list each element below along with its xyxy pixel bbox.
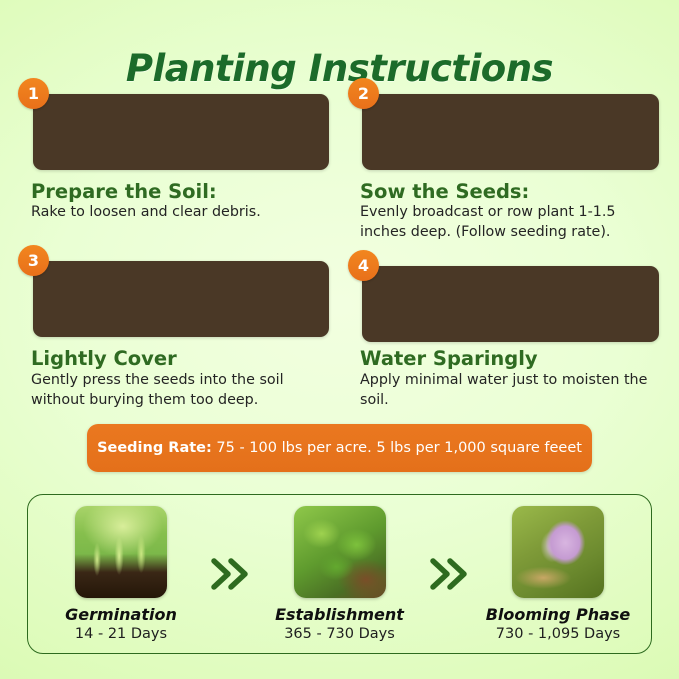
growth-timeline: Germination 14 - 21 Days Establishment 3… — [27, 494, 652, 654]
step-number-badge-2: 2 — [348, 78, 379, 109]
step-number-badge-1: 1 — [18, 78, 49, 109]
step-description-3: Gently press the seeds into the soil wit… — [31, 371, 331, 410]
seeding-rate-label: Seeding Rate: — [97, 440, 212, 456]
step-description-2: Evenly broadcast or row plant 1-1.5 inch… — [360, 203, 650, 242]
timeline-stage-blooming: Blooming Phase 730 - 1,095 Days — [483, 506, 633, 642]
step-heading-2: Sow the Seeds: — [360, 180, 529, 203]
step-number-badge-4: 4 — [348, 250, 379, 281]
stage-name-germination: Germination — [65, 605, 177, 624]
double-chevron-right-icon-2 — [426, 551, 472, 597]
stage-name-establishment: Establishment — [275, 605, 404, 624]
planting-instructions-infographic: Planting Instructions 1 Prepare the Soil… — [0, 0, 679, 679]
timeline-stage-germination: Germination 14 - 21 Days — [46, 506, 196, 642]
step-description-4: Apply minimal water just to moisten the … — [360, 371, 650, 410]
step-number-badge-3: 3 — [18, 245, 49, 276]
step-description-1: Rake to loosen and clear debris. — [31, 203, 331, 223]
stage-image-establishment — [294, 506, 386, 598]
step-image-1 — [33, 94, 329, 170]
stage-days-blooming: 730 - 1,095 Days — [496, 626, 620, 642]
stage-image-germination — [75, 506, 167, 598]
stage-days-establishment: 365 - 730 Days — [284, 626, 395, 642]
stage-days-germination: 14 - 21 Days — [75, 626, 167, 642]
step-heading-3: Lightly Cover — [31, 347, 177, 370]
double-chevron-right-icon-1 — [207, 551, 253, 597]
stage-name-blooming: Blooming Phase — [486, 605, 631, 624]
step-image-2 — [362, 94, 659, 170]
step-image-3 — [33, 261, 329, 337]
seeding-rate-banner: Seeding Rate: 75 - 100 lbs per acre. 5 l… — [87, 424, 592, 472]
step-heading-4: Water Sparingly — [360, 347, 538, 370]
page-title: Planting Instructions — [0, 47, 679, 90]
step-heading-1: Prepare the Soil: — [31, 180, 217, 203]
timeline-stage-establishment: Establishment 365 - 730 Days — [265, 506, 415, 642]
seeding-rate-text: Seeding Rate: 75 - 100 lbs per acre. 5 l… — [97, 440, 582, 456]
step-image-4 — [362, 266, 659, 342]
stage-image-blooming — [512, 506, 604, 598]
seeding-rate-value: 75 - 100 lbs per acre. 5 lbs per 1,000 s… — [216, 440, 582, 456]
